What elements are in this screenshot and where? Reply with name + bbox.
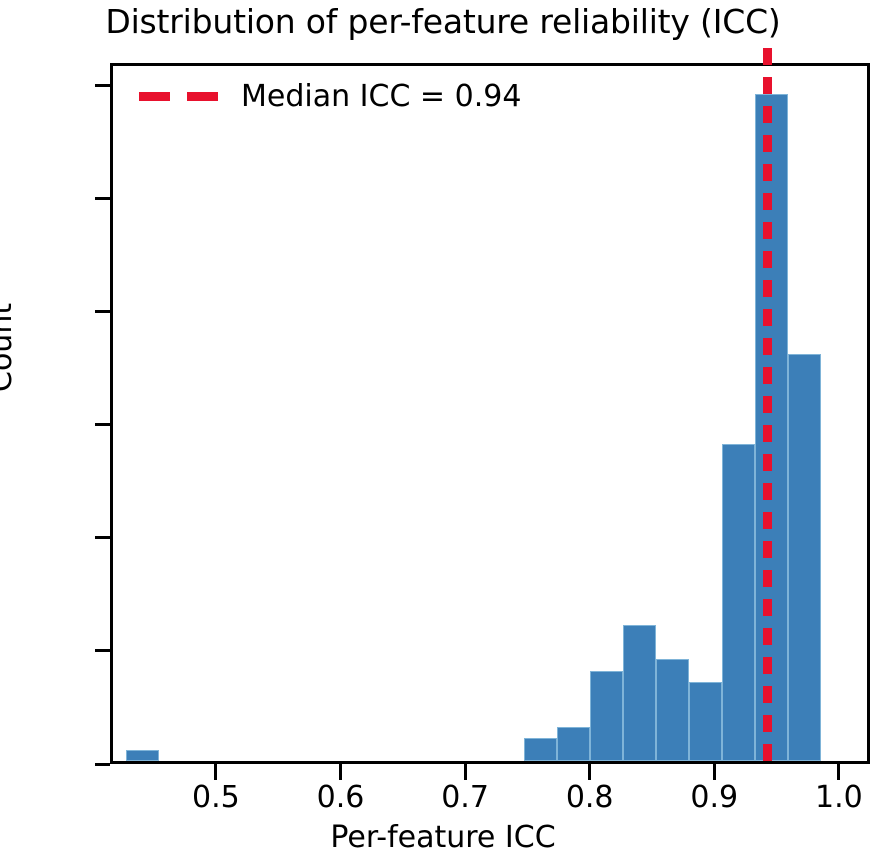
x-tick-mark — [464, 764, 467, 780]
x-tick-mark — [713, 764, 716, 780]
x-tick-label: 1.0 — [769, 780, 886, 815]
histogram-bar — [557, 727, 590, 761]
chart-legend: Median ICC = 0.94 — [133, 75, 527, 118]
histogram-bars — [113, 66, 867, 761]
histogram-bar — [590, 671, 623, 761]
x-tick-mark — [214, 764, 217, 780]
x-tick-label: 0.8 — [520, 780, 660, 815]
x-tick-mark — [339, 764, 342, 780]
histogram-bar — [689, 682, 722, 761]
x-axis-label: Per-feature ICC — [0, 820, 886, 855]
histogram-bar — [126, 750, 159, 761]
y-tick-mark — [95, 197, 110, 200]
x-tick-label: 0.5 — [146, 780, 286, 815]
chart-figure: Distribution of per-feature reliability … — [0, 0, 886, 862]
legend-entry-label: Median ICC = 0.94 — [241, 79, 521, 114]
y-axis-label: Count — [0, 303, 19, 392]
chart-title: Distribution of per-feature reliability … — [0, 2, 886, 41]
median-line — [763, 48, 772, 767]
x-tick-label: 0.7 — [395, 780, 535, 815]
x-tick-label: 0.9 — [644, 780, 784, 815]
x-tick-mark — [588, 764, 591, 780]
x-tick-label: 0.6 — [270, 780, 410, 815]
y-tick-mark — [95, 763, 110, 766]
histogram-bar — [722, 444, 755, 761]
y-tick-mark — [95, 423, 110, 426]
histogram-bar — [524, 738, 557, 761]
histogram-bar — [623, 625, 656, 761]
y-tick-mark — [95, 649, 110, 652]
y-tick-mark — [95, 310, 110, 313]
x-tick-mark — [837, 764, 840, 780]
plot-area — [110, 63, 870, 764]
y-tick-mark — [95, 536, 110, 539]
histogram-bar — [788, 354, 821, 761]
y-tick-mark — [95, 84, 110, 87]
median-line-swatch — [139, 92, 223, 101]
histogram-bar — [656, 659, 689, 761]
